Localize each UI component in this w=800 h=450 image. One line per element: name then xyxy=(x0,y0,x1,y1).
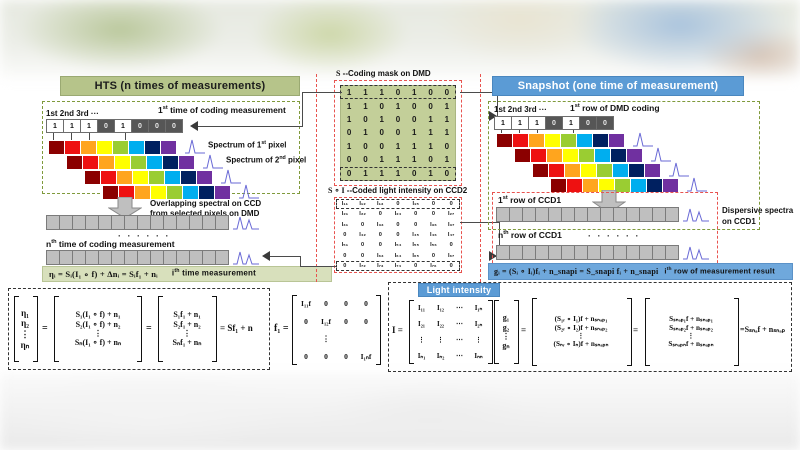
intensity-matrix: I₁₁I₁₂⋯I₁ₙI₂₁I₂₂⋯I₂ₙ⋮⋮⋯⋮Iₙ₁Iₙ₂⋯Iₙₙ xyxy=(412,300,488,364)
intensity-cell-r1c2: ⋯ xyxy=(450,316,469,332)
f1-cell-r1c0: 0 xyxy=(296,313,316,331)
snapshot-expanded-vector: (S₁ᵣ ∘ I₁)f + nₛₙₐₚ₁(S₂ᵣ ∘ I₂)f + nₛₙₐₚ₂… xyxy=(535,298,627,366)
coded-cell-r1c5: 0 xyxy=(425,209,443,219)
coded-cell-r3c2: 0 xyxy=(371,230,389,240)
f1-cell-r0c0: I₁₁f xyxy=(296,295,316,313)
equals-sign-2: = xyxy=(146,324,152,335)
snapshot-ccd-first-cell-12 xyxy=(652,207,666,222)
mask-cell-r4c4: 1 xyxy=(406,140,422,153)
hts-spectrum-label-1: Spectrum of 1st pixel xyxy=(208,141,286,150)
snapshot-ccd-first-cell-5 xyxy=(561,207,575,222)
snapshot-spectrum-1-band-0 xyxy=(496,133,513,148)
hts-nth-caption: nth time of coding measurement xyxy=(46,240,175,249)
intensity-cell-r2c0: ⋮ xyxy=(412,332,431,348)
mask-cell-r1c5: 0 xyxy=(422,99,438,112)
eta-row-1: η₂ xyxy=(21,318,29,329)
coded-intensity-title: S ∘ I --Coded light intensity on CCD2 xyxy=(328,187,467,195)
f1-cell-r1c3: 0 xyxy=(356,313,376,331)
snapshot-expanded-row-2: ⋮ xyxy=(577,332,584,340)
hts-expanded-vector: S₁(I₁ ∘ f) + n₁S₂(I₁ ∘ f) + n₂⋮Sₙ(I₁ ∘ f… xyxy=(58,296,138,362)
snapshot-ccd-nth-cell-1 xyxy=(509,245,523,260)
connector-arrowhead-hts-top xyxy=(190,121,199,131)
hts-ccd-nth-cell-10 xyxy=(176,250,190,265)
hts-ccdn-peak-glyph xyxy=(232,248,260,265)
snap-peak-glyph-2 xyxy=(650,146,672,162)
snapshot-ccd-nth-cell-10 xyxy=(626,245,640,260)
mask-cell-r5c0: 0 xyxy=(341,153,357,166)
hts-ccd-first-cell-4 xyxy=(98,215,112,230)
snapshot-ccd-first-cell-4 xyxy=(548,207,562,222)
g-row-2: ⋮ xyxy=(502,332,510,341)
hts-spectrum-1-band-4 xyxy=(112,140,129,155)
coded-cell-r5c6: I₆₇ xyxy=(442,250,460,260)
mask-cell-r5c2: 1 xyxy=(374,153,390,166)
intensity-cell-r2c3: ⋮ xyxy=(469,332,488,348)
snapshot-spectrum-4-band-1 xyxy=(566,178,583,193)
f1-cell-r0c2: 0 xyxy=(336,295,356,313)
center-separator-right xyxy=(480,74,481,282)
snapshot-ccd-first-cell-8 xyxy=(600,207,614,222)
hts-ccd-nth-cell-7 xyxy=(137,250,151,265)
snapshot-compact-row-3: Sₛₙₐₚₙf + nₛₙₐₚₙ xyxy=(668,340,713,348)
hts-ccd-first-cell-2 xyxy=(72,215,86,230)
intensity-cell-r2c2: ⋯ xyxy=(450,332,469,348)
hts-header-label: HTS (n times of measurements) xyxy=(95,81,266,92)
mask-cell-r5c1: 0 xyxy=(357,153,373,166)
hts-spectrum-3-band-3 xyxy=(132,170,149,185)
hts-ccd-nth-cell-13 xyxy=(215,250,229,265)
hts-ccd-first-cell-6 xyxy=(124,215,138,230)
hts-coding-bit-cell-2[interactable]: 1 xyxy=(80,119,98,133)
snapshot-header-label: Snapshot (one time of measurement) xyxy=(518,81,719,92)
snapshot-spectrum-2-band-6 xyxy=(610,148,627,163)
snapshot-spectrum-2-band-3 xyxy=(562,148,579,163)
f1-cell-r0c3: 0 xyxy=(356,295,376,313)
mask-cell-r5c4: 1 xyxy=(406,153,422,166)
mask-cell-r4c0: 1 xyxy=(341,140,357,153)
g-row-1: g₂ xyxy=(503,323,509,332)
hts-ccd-nth-cell-4 xyxy=(98,250,112,265)
coded-cell-r2c4: 0 xyxy=(407,220,425,230)
hts-ccd-first-cell-8 xyxy=(150,215,164,230)
hts-ccd-nth-cell-8 xyxy=(150,250,164,265)
hts-spectrum-3-band-4 xyxy=(148,170,165,185)
coded-last-row-highlight xyxy=(336,261,460,271)
snapshot-spectrum-1-band-4 xyxy=(560,133,577,148)
hts-compact-row-3: Sₙf₁ + nₙ xyxy=(173,338,202,347)
hts-spectrum-3-band-5 xyxy=(164,170,181,185)
intensity-cell-r3c3: Iₙₙ xyxy=(469,348,488,364)
hts-spectrum-4-band-7 xyxy=(214,185,231,200)
hts-spectrum-4-band-4 xyxy=(166,185,183,200)
hts-equation-bar: ηᵢ = Sᵢ(I₁ ∘ f) + Δnᵢ = Sᵢf₁ + nᵢ ith ti… xyxy=(42,266,332,282)
bracket-right-f1 xyxy=(376,295,381,365)
coded-cell-r4c6: 0 xyxy=(442,240,460,250)
hts-coding-bit-cell-0[interactable]: 1 xyxy=(46,119,64,133)
connector-mask-to-hts-v xyxy=(302,92,303,126)
snapshot-coding-bit-row[interactable]: 1110100 xyxy=(494,116,613,130)
mask-cell-r1c3: 1 xyxy=(390,99,406,112)
coded-cell-r1c0: I₂₁ xyxy=(336,209,354,219)
hts-ccd1-peak-glyph xyxy=(232,213,260,230)
hts-expanded-row-3: Sₙ(I₁ ∘ f) + nₙ xyxy=(75,338,121,347)
snapshot-ccd-row-nth xyxy=(496,245,678,260)
mask-cell-r3c3: 0 xyxy=(390,126,406,139)
snapshot-spectrum-4-band-0 xyxy=(550,178,567,193)
snapshot-ccd-nth-cell-5 xyxy=(561,245,575,260)
snapshot-ellipsis: · · · · · · xyxy=(588,232,641,241)
equals-sign-1: = xyxy=(42,324,48,335)
snapshot-spectrum-4-band-5 xyxy=(630,178,647,193)
intensity-cell-r0c1: I₁₂ xyxy=(431,300,450,316)
peak-glyph-4 xyxy=(238,183,260,199)
connector-mask-to-hts-h xyxy=(302,92,342,93)
hts-ccd-nth-cell-5 xyxy=(111,250,125,265)
hts-ccd-row-first xyxy=(46,215,228,230)
hts-ccd-nth-cell-1 xyxy=(59,250,73,265)
coded-cell-r4c1: 0 xyxy=(354,240,372,250)
coded-cell-r5c2: I₆₃ xyxy=(371,250,389,260)
snapshot-spectrum-4-band-7 xyxy=(662,178,679,193)
snapshot-spectrum-3-band-0 xyxy=(532,163,549,178)
hts-spectrum-2-band-6 xyxy=(162,155,179,170)
snap-peak-glyph-3 xyxy=(668,161,690,177)
hts-compact-vector: S₁f₁ + n₁S₂f₁ + n₂⋮Sₙf₁ + nₙ xyxy=(161,296,213,362)
snapshot-ccd-row-first xyxy=(496,207,678,222)
coded-cell-r3c0: 0 xyxy=(336,230,354,240)
f1-cell-r1c2: 0 xyxy=(336,313,356,331)
f1-cell-r2c2 xyxy=(336,330,356,348)
snapshot-ccd-nth-cell-2 xyxy=(522,245,536,260)
mask-cell-r1c2: 0 xyxy=(374,99,390,112)
hts-spectrum-3-band-1 xyxy=(100,170,117,185)
hts-spectrum-3-band-2 xyxy=(116,170,133,185)
mask-cell-r3c2: 0 xyxy=(374,126,390,139)
hts-spectrum-2-band-4 xyxy=(130,155,147,170)
mask-cell-r4c2: 0 xyxy=(374,140,390,153)
mask-cell-r2c6: 1 xyxy=(439,113,455,126)
hts-compact-row-1: S₂f₁ + n₂ xyxy=(173,320,200,329)
light-intensity-badge: Light intensity xyxy=(418,283,500,297)
hts-spectrum-2-band-2 xyxy=(98,155,115,170)
mask-cell-r1c1: 1 xyxy=(357,99,373,112)
hts-spectrum-2-band-5 xyxy=(146,155,163,170)
snapshot-ccd-first-cell-13 xyxy=(665,207,679,222)
snapshot-coding-bit-cell-4[interactable]: 1 xyxy=(562,116,580,130)
coded-cell-r2c3: 0 xyxy=(389,220,407,230)
hts-spectrum-label-2: Spectrum of 2nd pixel xyxy=(226,156,306,165)
hts-ccd-first-cell-7 xyxy=(137,215,151,230)
snapshot-compact-row-2: ⋮ xyxy=(687,332,694,340)
snapshot-spectrum-2-band-1 xyxy=(530,148,547,163)
snapshot-ccd-nth-cell-7 xyxy=(587,245,601,260)
snapshot-expanded-row-1: (S₂ᵣ ∘ I₂)f + nₛₙₐₚ₂ xyxy=(555,324,608,332)
hts-order-label: 1st 2nd 3rd ··· xyxy=(46,110,99,118)
hts-spectrum-row-2 xyxy=(66,155,194,170)
snapshot-ccd-nth-cell-13 xyxy=(665,245,679,260)
coded-cell-r3c4: I₄₅ xyxy=(407,230,425,240)
snapshot-spectrum-3-band-4 xyxy=(596,163,613,178)
snapshot-ccd-first-cell-6 xyxy=(574,207,588,222)
hts-spectrum-1-band-1 xyxy=(64,140,81,155)
coded-cell-r1c2: 0 xyxy=(371,209,389,219)
snapshot-header: Snapshot (one time of measurement) xyxy=(492,76,744,96)
diagram-canvas: HTS (n times of measurements) 1st 2nd 3r… xyxy=(0,0,800,450)
connector-mask-to-hts-h2 xyxy=(196,126,303,127)
snapshot-coding-caption: 1st row of DMD coding xyxy=(570,104,660,113)
bracket-right-snap xyxy=(734,298,739,366)
g-row-3: gₙ xyxy=(502,341,509,350)
snapshot-spectrum-row-3 xyxy=(532,163,660,178)
light-intensity-badge-label: Light intensity xyxy=(427,286,492,295)
snapshot-spectrum-3-band-1 xyxy=(548,163,565,178)
snap-peak-glyph-4 xyxy=(686,176,708,192)
hts-ccd-nth-cell-12 xyxy=(202,250,216,265)
snapshot-spectrum-2-band-2 xyxy=(546,148,563,163)
connector-coded-to-htsn-h xyxy=(300,266,336,267)
hts-ccd-first-cell-5 xyxy=(111,215,125,230)
snapshot-spectrum-1-band-5 xyxy=(576,133,593,148)
intensity-cell-r2c1: ⋮ xyxy=(431,332,450,348)
hts-ccd-row-nth xyxy=(46,250,228,265)
intensity-cell-r3c2: ⋯ xyxy=(450,348,469,364)
coded-cell-r4c5: I₅₆ xyxy=(425,240,443,250)
snapshot-spectrum-3-band-2 xyxy=(564,163,581,178)
coded-cell-r4c2: 0 xyxy=(371,240,389,250)
mask-cell-r3c1: 1 xyxy=(357,126,373,139)
hts-ccd-first-cell-0 xyxy=(46,215,60,230)
hts-coding-caption: 1st time of coding measurement xyxy=(158,106,286,115)
center-separator-left xyxy=(316,74,317,282)
light-intensity-result: =Sₛₙₐ₞f + nₛₙₐₚ xyxy=(740,326,785,334)
snapshot-coding-bit-cell-0[interactable]: 1 xyxy=(494,116,512,130)
hts-ccd-first-cell-12 xyxy=(202,215,216,230)
snapshot-compact-row-1: Sₛₙₐₚ₂f + nₛₙₐₚ₂ xyxy=(669,324,713,332)
snapshot-equation-text: gᵢ = (Sᵢ ∘ Iᵢ)fᵢ + n_snapi = S_snapi fᵢ … xyxy=(494,268,658,276)
snapshot-ccd-nth-cell-9 xyxy=(613,245,627,260)
mask-cell-r5c3: 1 xyxy=(390,153,406,166)
mask-last-row-highlight xyxy=(340,167,456,181)
connector-arrowhead-hts-nth xyxy=(262,251,271,261)
snapshot-spectrum-2-band-4 xyxy=(578,148,595,163)
snapshot-spectrum-1-band-7 xyxy=(608,133,625,148)
hts-spectrum-1-band-5 xyxy=(128,140,145,155)
hts-spectrum-4-band-5 xyxy=(182,185,199,200)
snapshot-spectrum-3-band-7 xyxy=(644,163,661,178)
coded-cell-r3c6: I₄₇ xyxy=(442,230,460,240)
hts-coding-bit-cell-3[interactable]: 0 xyxy=(97,119,115,133)
hts-ccd-first-cell-9 xyxy=(163,215,177,230)
snap-ccd1-peak-glyph xyxy=(682,205,710,222)
g-vector: g₁g₂⋮gₙ xyxy=(497,300,515,364)
mask-first-row-highlight xyxy=(340,85,456,99)
snapshot-spectrum-3-band-3 xyxy=(580,163,597,178)
mask-cell-r4c6: 0 xyxy=(439,140,455,153)
mask-cell-r3c0: 0 xyxy=(341,126,357,139)
snapshot-expanded-row-3: (Sₙᵣ ∘ Iₙ)f + nₛₙₐₚₙ xyxy=(554,340,609,348)
hts-ccd-first-cell-3 xyxy=(85,215,99,230)
intensity-cell-r1c0: I₂₁ xyxy=(412,316,431,332)
coded-cell-r1c4: 0 xyxy=(407,209,425,219)
coded-cell-r4c4: I₅₅ xyxy=(407,240,425,250)
coded-cell-r2c0: I₃₁ xyxy=(336,220,354,230)
hts-ccd-nth-cell-6 xyxy=(124,250,138,265)
coded-cell-r1c3: I₂₄ xyxy=(389,209,407,219)
snapshot-coding-bit-cell-5[interactable]: 0 xyxy=(579,116,597,130)
snapshot-spectrum-2-band-7 xyxy=(626,148,643,163)
hts-coding-bit-cell-5[interactable]: 0 xyxy=(131,119,149,133)
snapshot-ccd-nth-cell-8 xyxy=(600,245,614,260)
equals-sign-3: = xyxy=(521,326,526,335)
snapshot-spectrum-2-band-0 xyxy=(514,148,531,163)
bracket-right-expand xyxy=(627,298,632,366)
eta-vector: η₁η₂⋮ηₙ xyxy=(17,296,33,362)
snapshot-compact-vector: Sₛₙₐₚ₁f + nₛₙₐₚ₁Sₛₙₐₚ₂f + nₛₙₐₚ₂⋮Sₛₙₐₚₙf… xyxy=(648,298,734,366)
mask-cell-r4c1: 0 xyxy=(357,140,373,153)
snapshot-spectrum-2-band-5 xyxy=(594,148,611,163)
hts-coding-bit-row[interactable]: 11101000 xyxy=(46,119,182,133)
snapshot-ccd-first-cell-2 xyxy=(522,207,536,222)
intensity-cell-r0c3: I₁ₙ xyxy=(469,300,488,316)
hts-ccd-first-cell-13 xyxy=(215,215,229,230)
mask-cell-r4c5: 1 xyxy=(422,140,438,153)
hts-spectrum-1-band-0 xyxy=(48,140,65,155)
snapshot-ccd-nth-cell-11 xyxy=(639,245,653,260)
intensity-cell-r3c0: Iₙ₁ xyxy=(412,348,431,364)
hts-spectrum-row-3 xyxy=(84,170,212,185)
mask-cell-r1c4: 0 xyxy=(406,99,422,112)
coded-cell-r2c2: I₃₃ xyxy=(371,220,389,230)
hts-spectrum-3-band-7 xyxy=(196,170,213,185)
mask-cell-r3c4: 1 xyxy=(406,126,422,139)
hts-ccd-first-cell-10 xyxy=(176,215,190,230)
mask-cell-r5c6: 1 xyxy=(439,153,455,166)
snapshot-ccd-nth-caption: nth row of CCD1 xyxy=(498,231,562,240)
snapshot-spectrum-1-band-1 xyxy=(512,133,529,148)
intensity-cell-r0c2: ⋯ xyxy=(450,300,469,316)
snapshot-ccd-nth-cell-12 xyxy=(652,245,666,260)
coded-cell-r3c5: I₄₆ xyxy=(425,230,443,240)
bracket-right-I xyxy=(488,300,493,364)
hts-compact-row-0: S₁f₁ + n₁ xyxy=(173,310,200,319)
hts-header: HTS (n times of measurements) xyxy=(60,76,300,96)
hts-spectrum-4-band-3 xyxy=(150,185,167,200)
mask-cell-r2c5: 1 xyxy=(422,113,438,126)
connector-coded-to-htsn-h2 xyxy=(268,256,301,257)
mask-cell-r4c3: 1 xyxy=(390,140,406,153)
hts-coding-bit-cell-6[interactable]: 0 xyxy=(148,119,166,133)
snapshot-ccd-first-cell-9 xyxy=(613,207,627,222)
snapshot-coding-bit-cell-6[interactable]: 0 xyxy=(596,116,614,130)
hts-expanded-row-1: S₂(I₁ ∘ f) + n₂ xyxy=(76,320,121,329)
snap-peak-glyph-1 xyxy=(632,131,654,147)
f1-cell-r2c0 xyxy=(296,330,316,348)
coded-cell-r1c6: I₂₇ xyxy=(442,209,460,219)
snapshot-ccd-first-cell-7 xyxy=(587,207,601,222)
hts-ccd-nth-cell-0 xyxy=(46,250,60,265)
hts-coding-bit-cell-7[interactable]: 0 xyxy=(165,119,183,133)
f1-cell-r2c3 xyxy=(356,330,376,348)
coded-cell-r2c1: 0 xyxy=(354,220,372,230)
mask-cell-r2c1: 0 xyxy=(357,113,373,126)
coded-cell-r1c1: I₂₂ xyxy=(354,209,372,219)
snapshot-equation-bar: gᵢ = (Sᵢ ∘ Iᵢ)fᵢ + n_snapi = S_snapi fᵢ … xyxy=(488,263,793,280)
intensity-cell-r3c1: Iₙ₂ xyxy=(431,348,450,364)
hts-equation-result: = Sf₁ + n xyxy=(220,324,253,333)
hts-coding-bit-cell-4[interactable]: 1 xyxy=(114,119,132,133)
snapshot-order-label: 1st 2nd 3rd ··· xyxy=(494,106,547,114)
f1-cell-r0c1: 0 xyxy=(316,295,336,313)
snapshot-coding-bit-cell-3[interactable]: 0 xyxy=(545,116,563,130)
hts-spectrum-1-band-3 xyxy=(96,140,113,155)
intensity-cell-r0c0: I₁₁ xyxy=(412,300,431,316)
mask-cell-r1c0: 1 xyxy=(341,99,357,112)
snapshot-spectrum-3-band-5 xyxy=(612,163,629,178)
hts-spectrum-2-band-1 xyxy=(82,155,99,170)
coded-cell-r2c5: I₃₆ xyxy=(425,220,443,230)
snapshot-spectrum-1-band-2 xyxy=(528,133,545,148)
mask-cell-r5c5: 0 xyxy=(422,153,438,166)
f1-diagonal-matrix: I₁₁f0000I₁₂f00⋮000I₁ₙf xyxy=(296,295,376,365)
snapshot-ccd-first-cell-10 xyxy=(626,207,640,222)
hts-spectrum-2-band-3 xyxy=(114,155,131,170)
snapshot-coding-bit-cell-1[interactable]: 1 xyxy=(511,116,529,130)
snapshot-spectrum-1-band-3 xyxy=(544,133,561,148)
eta-row-2: ⋮ xyxy=(21,329,30,340)
snapshot-ccd-first-cell-0 xyxy=(496,207,510,222)
bracket-right-eta xyxy=(33,296,38,362)
mask-cell-r2c2: 1 xyxy=(374,113,390,126)
connector-coded-to-htsn-v xyxy=(300,256,301,267)
mask-title: S --Coding mask on DMD xyxy=(336,70,431,78)
hts-ccd-nth-cell-9 xyxy=(163,250,177,265)
snap-ccdn-peak-glyph xyxy=(682,243,710,260)
snapshot-coding-bit-cell-2[interactable]: 1 xyxy=(528,116,546,130)
coded-cell-r2c6: I₃₇ xyxy=(442,220,460,230)
snapshot-expanded-row-0: (S₁ᵣ ∘ I₁)f + nₛₙₐₚ₁ xyxy=(555,315,608,323)
hts-ccd-nth-cell-2 xyxy=(72,250,86,265)
f1-cell-r3c2: 0 xyxy=(336,348,356,366)
snapshot-ccd-nth-cell-3 xyxy=(535,245,549,260)
hts-ccd-first-cell-1 xyxy=(59,215,73,230)
equals-sign-4: = xyxy=(633,326,638,335)
snapshot-ccd-nth-cell-6 xyxy=(574,245,588,260)
coded-cell-r4c0: I₅₁ xyxy=(336,240,354,250)
snapshot-ccd-first-cell-11 xyxy=(639,207,653,222)
eta-row-0: η₁ xyxy=(21,308,29,319)
hts-ccd-nth-cell-11 xyxy=(189,250,203,265)
mask-cell-r2c4: 0 xyxy=(406,113,422,126)
I-label: I = xyxy=(392,326,403,335)
snapshot-ccd-first-caption: 1st row of CCD1 xyxy=(498,196,561,205)
hts-coding-bit-cell-1[interactable]: 1 xyxy=(63,119,81,133)
intensity-cell-r1c3: I₂ₙ xyxy=(469,316,488,332)
dispersive-spectra-caption: Dispersive spectra on CCD1 xyxy=(722,205,793,227)
hts-spectrum-3-band-0 xyxy=(84,170,101,185)
f1-cell-r1c1: I₁₂f xyxy=(316,313,336,331)
f1-cell-r3c0: 0 xyxy=(296,348,316,366)
eta-row-3: ηₙ xyxy=(21,340,30,351)
f1-cell-r2c1: ⋮ xyxy=(316,330,336,348)
hts-spectrum-1-band-2 xyxy=(80,140,97,155)
hts-spectrum-2-band-7 xyxy=(178,155,195,170)
coded-cell-r5c4: I₆₅ xyxy=(407,250,425,260)
coded-cell-r5c5: 0 xyxy=(425,250,443,260)
coded-cell-r3c1: I₄₂ xyxy=(354,230,372,240)
hts-spectrum-row-1 xyxy=(48,140,176,155)
snapshot-spectrum-1-band-6 xyxy=(592,133,609,148)
mask-cell-r1c6: 1 xyxy=(439,99,455,112)
